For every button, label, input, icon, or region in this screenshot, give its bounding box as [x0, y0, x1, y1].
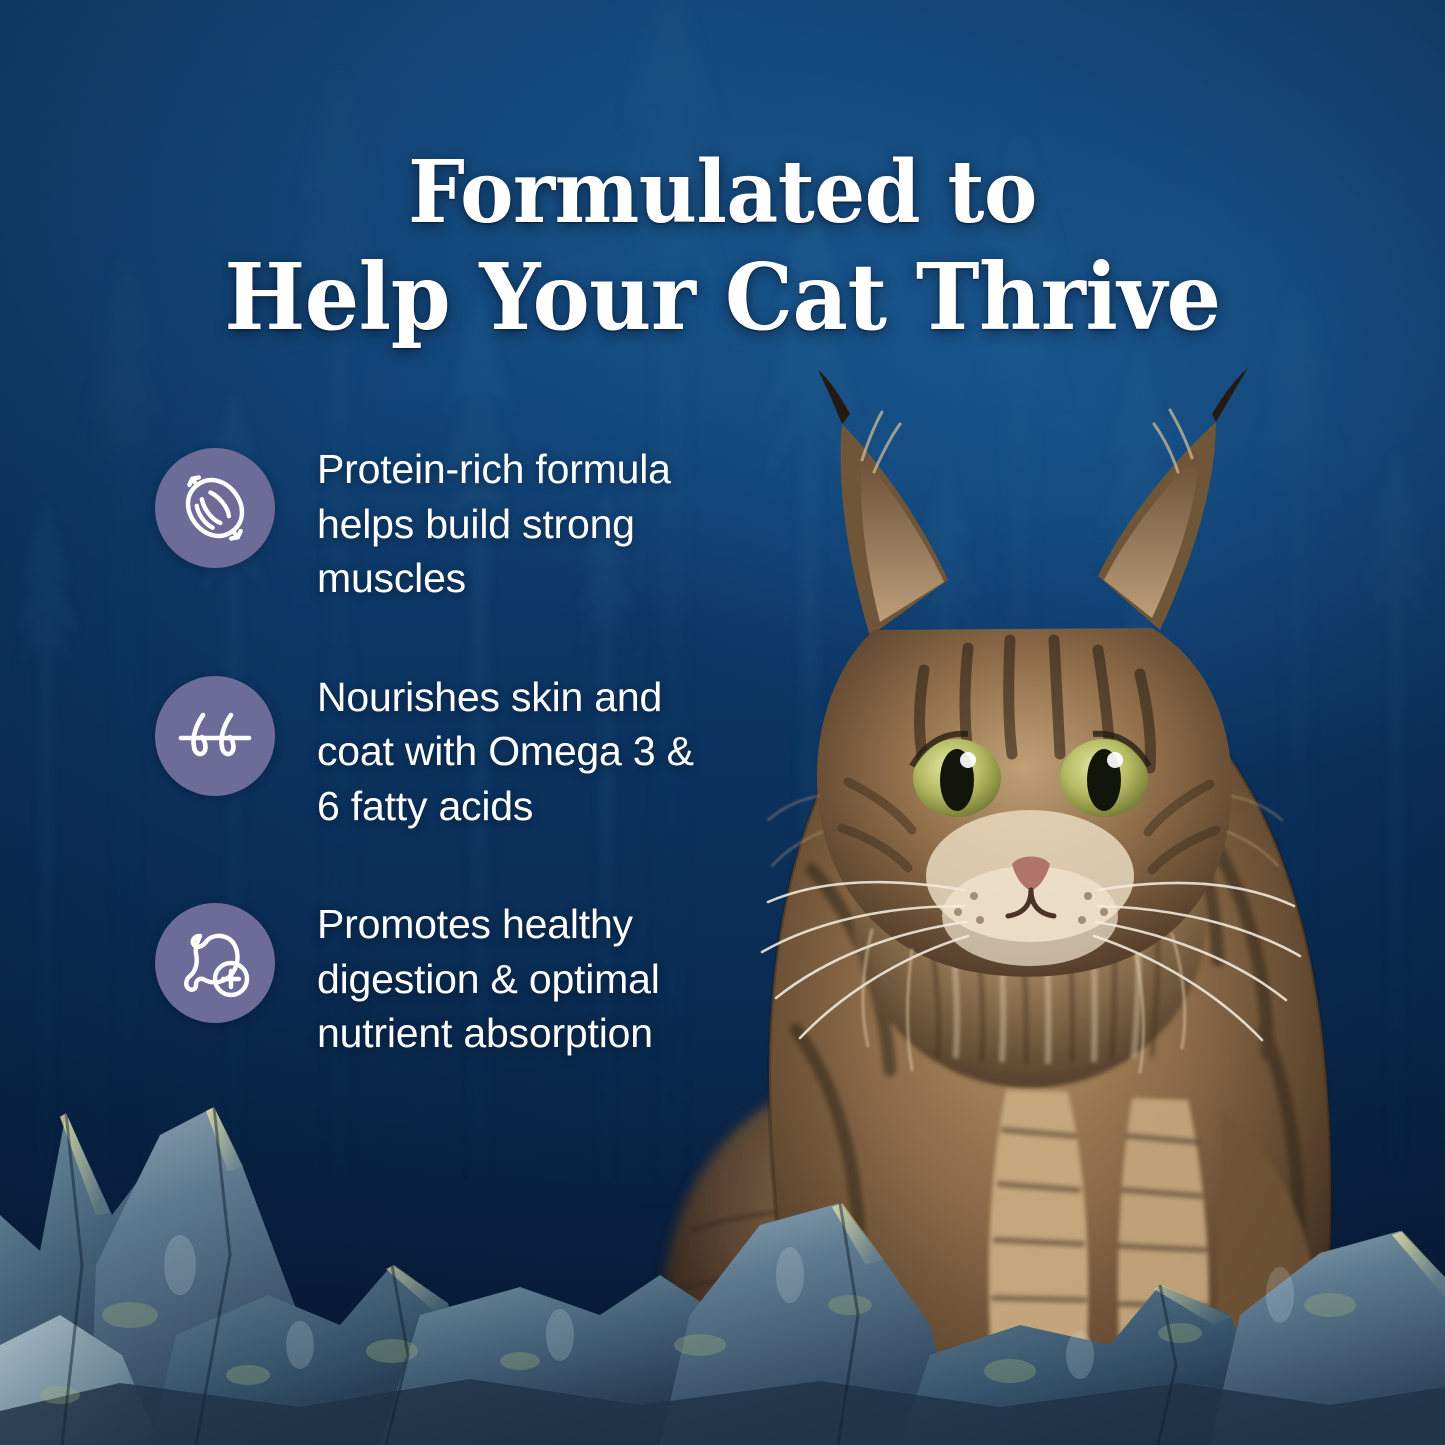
- benefits-list: Protein-rich formula helps build strong …: [155, 440, 715, 1061]
- benefit-item-digestion: Promotes healthy digestion & optimal nut…: [155, 895, 715, 1061]
- hair-follicle-icon-badge: [155, 676, 275, 796]
- benefit-text-protein: Protein-rich formula helps build strong …: [317, 440, 715, 606]
- headline-line-1: Formulated to: [134, 142, 1310, 243]
- benefit-text-skin-coat: Nourishes skin and coat with Omega 3 & 6…: [317, 668, 715, 834]
- muscle-icon-badge: [155, 448, 275, 568]
- benefit-text-digestion: Promotes healthy digestion & optimal nut…: [317, 895, 715, 1061]
- page-title: Formulated to Help Your Cat Thrive: [51, 142, 1395, 352]
- benefit-item-protein: Protein-rich formula helps build strong …: [155, 440, 715, 606]
- hair-follicle-icon: [176, 697, 254, 775]
- rock-foreground: [0, 1015, 1445, 1445]
- stomach-plus-icon-badge: [155, 903, 275, 1023]
- product-feature-banner: Formulated to Help Your Cat Thrive: [0, 0, 1445, 1445]
- benefit-item-skin-coat: Nourishes skin and coat with Omega 3 & 6…: [155, 668, 715, 834]
- muscle-icon: [176, 469, 254, 547]
- headline-line-2: Help Your Cat Thrive: [134, 243, 1310, 352]
- stomach-plus-icon: [176, 924, 254, 1002]
